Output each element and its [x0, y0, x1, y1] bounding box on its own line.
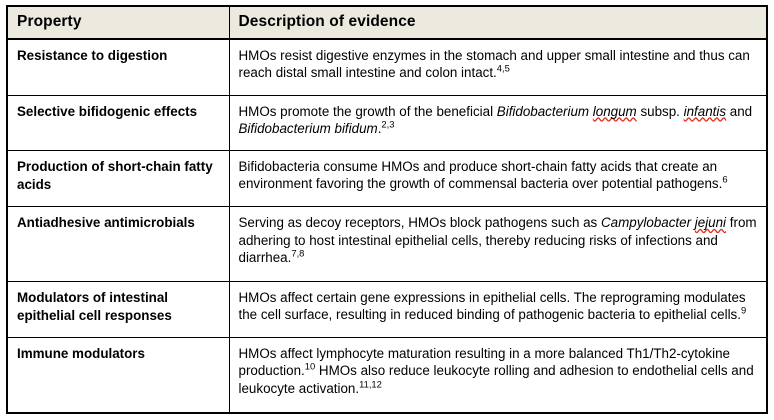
description-text: HMOs affect certain gene expressions in …: [239, 289, 758, 324]
reference-superscript: 4,5: [497, 63, 510, 74]
property-cell: Production of short-chain fatty acids: [7, 151, 229, 207]
description-text: Bifidobacteria consume HMOs and produce …: [239, 158, 758, 193]
scientific-name: Bifidobacterium: [497, 104, 593, 119]
property-cell: Selective bifidogenic effects: [7, 95, 229, 150]
reference-superscript: 10: [305, 361, 315, 372]
description-cell: HMOs affect certain gene expressions in …: [229, 281, 767, 337]
spellcheck-flagged-word: longum: [593, 104, 637, 119]
text-segment: HMOs resist digestive enzymes in the sto…: [239, 48, 750, 80]
text-segment: HMOs affect certain gene expressions in …: [239, 290, 746, 322]
description-cell: HMOs resist digestive enzymes in the sto…: [229, 39, 767, 95]
description-cell: Serving as decoy receptors, HMOs block p…: [229, 207, 767, 282]
table-row: Immune modulatorsHMOs affect lymphocyte …: [7, 338, 767, 413]
spellcheck-flagged-word: jejuni: [695, 215, 726, 230]
reference-superscript: 6: [722, 174, 727, 185]
description-cell: HMOs affect lymphocyte maturation result…: [229, 338, 767, 413]
description-text: HMOs affect lymphocyte maturation result…: [239, 345, 758, 397]
scientific-name: Campylobacter: [601, 215, 695, 230]
description-text: Serving as decoy receptors, HMOs block p…: [239, 214, 758, 266]
page-root: Property Description of evidence Resista…: [0, 0, 774, 420]
column-header-property: Property: [7, 6, 229, 39]
reference-superscript: 2,3: [381, 118, 394, 129]
table-row: Production of short-chain fatty acidsBif…: [7, 151, 767, 207]
property-cell: Immune modulators: [7, 338, 229, 413]
evidence-table: Property Description of evidence Resista…: [6, 5, 768, 414]
text-segment: Serving as decoy receptors, HMOs block p…: [239, 215, 601, 230]
reference-superscript: 9: [741, 305, 746, 316]
text-segment: and: [726, 104, 752, 119]
spellcheck-flagged-word: infantis: [684, 104, 726, 119]
table-row: Modulators of intestinal epithelial cell…: [7, 281, 767, 337]
table-row: Antiadhesive antimicrobialsServing as de…: [7, 207, 767, 282]
text-segment: Bifidobacteria consume HMOs and produce …: [239, 159, 723, 191]
description-cell: Bifidobacteria consume HMOs and produce …: [229, 151, 767, 207]
reference-superscript: 11,12: [359, 378, 382, 389]
text-segment: subsp.: [637, 104, 684, 119]
text-segment: HMOs also reduce leukocyte rolling and a…: [239, 363, 754, 395]
property-cell: Antiadhesive antimicrobials: [7, 207, 229, 282]
description-text: HMOs resist digestive enzymes in the sto…: [239, 47, 758, 82]
table-row: Selective bifidogenic effectsHMOs promot…: [7, 95, 767, 150]
description-text: HMOs promote the growth of the beneficia…: [239, 103, 758, 138]
scientific-name: Bifidobacterium bifidum: [239, 121, 378, 136]
table-header: Property Description of evidence: [7, 6, 767, 39]
table-body: Resistance to digestionHMOs resist diges…: [7, 39, 767, 413]
description-cell: HMOs promote the growth of the beneficia…: [229, 95, 767, 150]
column-header-description: Description of evidence: [229, 6, 767, 39]
text-segment: HMOs promote the growth of the beneficia…: [239, 104, 497, 119]
table-header-row: Property Description of evidence: [7, 6, 767, 39]
property-cell: Resistance to digestion: [7, 39, 229, 95]
property-cell: Modulators of intestinal epithelial cell…: [7, 281, 229, 337]
reference-superscript: 7,8: [291, 247, 304, 258]
table-row: Resistance to digestionHMOs resist diges…: [7, 39, 767, 95]
